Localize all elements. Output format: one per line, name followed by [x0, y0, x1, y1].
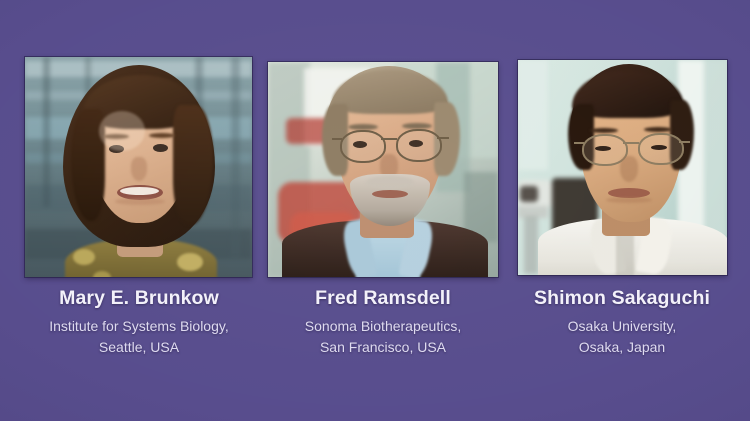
laureate-photo-2 — [268, 62, 498, 277]
eye-right-3 — [651, 145, 667, 150]
affiliation-line-2a: Sonoma Biotherapeutics, — [258, 316, 508, 337]
affiliation-line-2b: San Francisco, USA — [258, 337, 508, 358]
laureate-affiliation-1: Institute for Systems Biology, Seattle, … — [10, 316, 268, 358]
laureates-slide: Mary E. Brunkow Institute for Systems Bi… — [0, 0, 750, 421]
laureate-affiliation-3: Osaka University, Osaka, Japan — [508, 316, 736, 358]
eye-right-2 — [409, 140, 423, 147]
affiliation-line-3b: Osaka, Japan — [508, 337, 736, 358]
laureate-photo-3 — [518, 60, 727, 275]
laureate-name-2: Fred Ramsdell — [258, 287, 508, 309]
laureate-name-1: Mary E. Brunkow — [10, 287, 268, 309]
laureate-caption-2: Fred Ramsdell Sonoma Biotherapeutics, Sa… — [258, 287, 508, 358]
laureate-caption-3: Shimon Sakaguchi Osaka University, Osaka… — [508, 287, 736, 358]
eye-right-1 — [153, 144, 168, 152]
eye-left-2 — [353, 141, 367, 148]
affiliation-line-3a: Osaka University, — [508, 316, 736, 337]
portrait-image-3 — [518, 60, 727, 275]
glasses-bridge-3 — [623, 142, 639, 144]
eye-left-3 — [595, 146, 611, 151]
glasses-bridge-2 — [381, 138, 397, 140]
laureate-name-3: Shimon Sakaguchi — [508, 287, 736, 309]
affiliation-line-1b: Seattle, USA — [10, 337, 268, 358]
mouth-2 — [372, 190, 408, 198]
laureate-caption-1: Mary E. Brunkow Institute for Systems Bi… — [10, 287, 268, 358]
portrait-image-1 — [25, 57, 252, 277]
laureate-photo-1 — [25, 57, 252, 277]
portrait-image-2 — [268, 62, 498, 277]
affiliation-line-1a: Institute for Systems Biology, — [10, 316, 268, 337]
laureate-affiliation-2: Sonoma Biotherapeutics, San Francisco, U… — [258, 316, 508, 358]
